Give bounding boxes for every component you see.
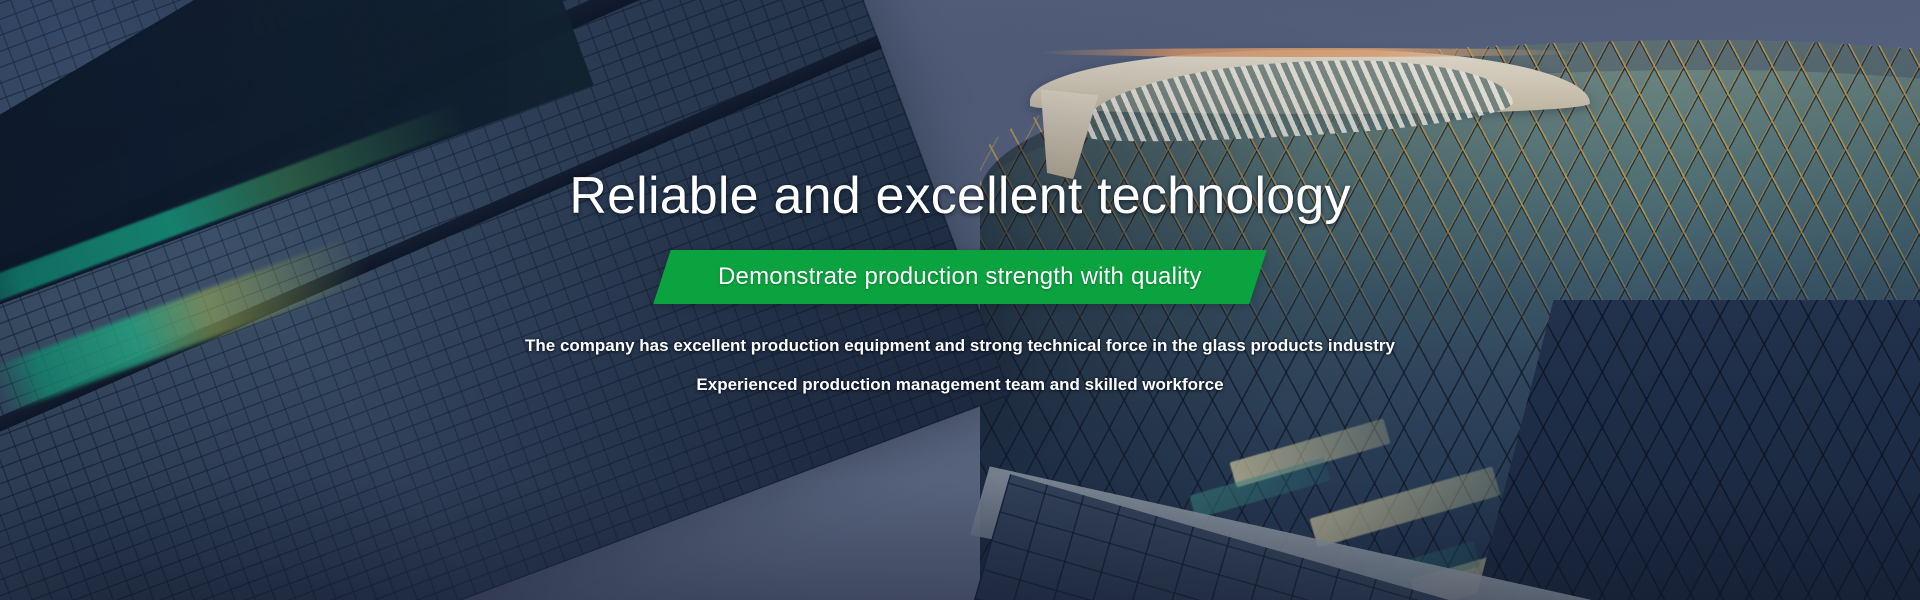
tagline-ribbon[interactable]: Demonstrate production strength with qua…: [653, 250, 1266, 304]
hero-banner: Reliable and excellent technology Demons…: [0, 0, 1920, 600]
tagline-ribbon-label: Demonstrate production strength with qua…: [718, 263, 1202, 291]
page-title: Reliable and excellent technology: [569, 168, 1350, 225]
ribbon-container: Demonstrate production strength with qua…: [662, 250, 1258, 304]
subtitle-line-2: Experienced production management team a…: [525, 375, 1395, 395]
subtitle-group: The company has excellent production equ…: [525, 336, 1395, 394]
hero-content: Reliable and excellent technology Demons…: [0, 0, 1920, 600]
subtitle-line-1: The company has excellent production equ…: [525, 336, 1395, 356]
